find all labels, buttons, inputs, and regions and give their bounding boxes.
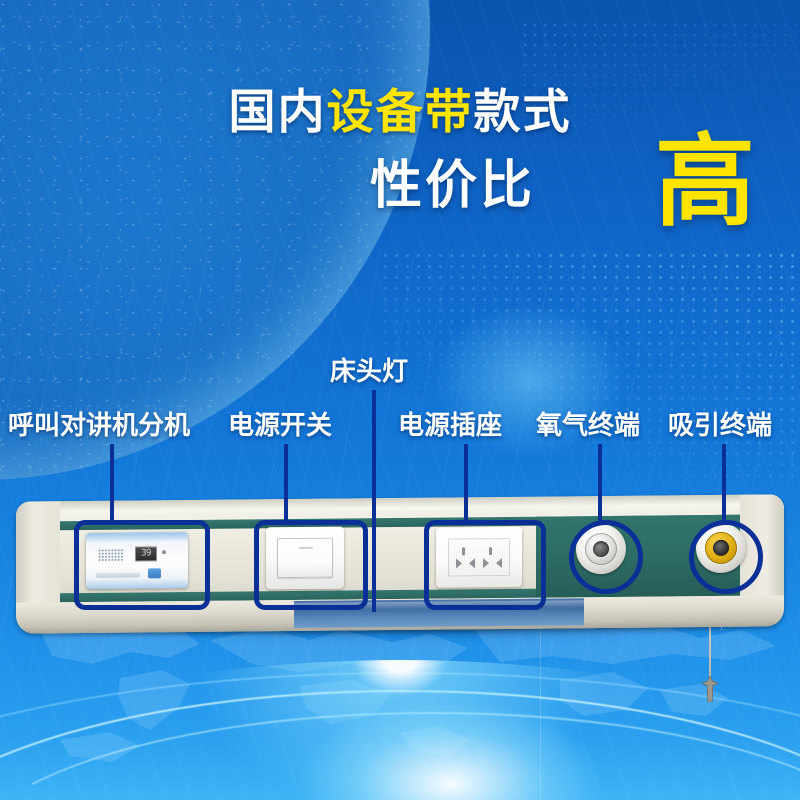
callout-label-oxygen-terminal: 氧气终端	[536, 412, 640, 438]
leader-line-bed-lamp	[372, 390, 376, 612]
leader-line-suction-terminal	[722, 444, 726, 524]
callout-label-intercom: 呼叫对讲机分机	[8, 412, 190, 438]
callout-layer: 呼叫对讲机分机 电源开关 床头灯 电源插座 氧气终端 吸引终端	[0, 0, 800, 800]
leader-line-oxygen-terminal	[598, 444, 602, 524]
callout-label-bed-lamp: 床头灯	[330, 358, 408, 384]
callout-label-power-socket: 电源插座	[398, 412, 502, 438]
leader-line-intercom	[110, 444, 114, 522]
leader-line-power-socket	[464, 444, 468, 522]
callout-label-power-switch: 电源开关	[228, 412, 332, 438]
leader-line-power-switch	[284, 444, 288, 522]
callout-label-suction-terminal: 吸引终端	[668, 412, 772, 438]
poster-canvas: 国内设备带款式 性价比 高 呼叫对讲机分机 电源开关 床头灯 电源插座 氧气终端…	[0, 0, 800, 800]
